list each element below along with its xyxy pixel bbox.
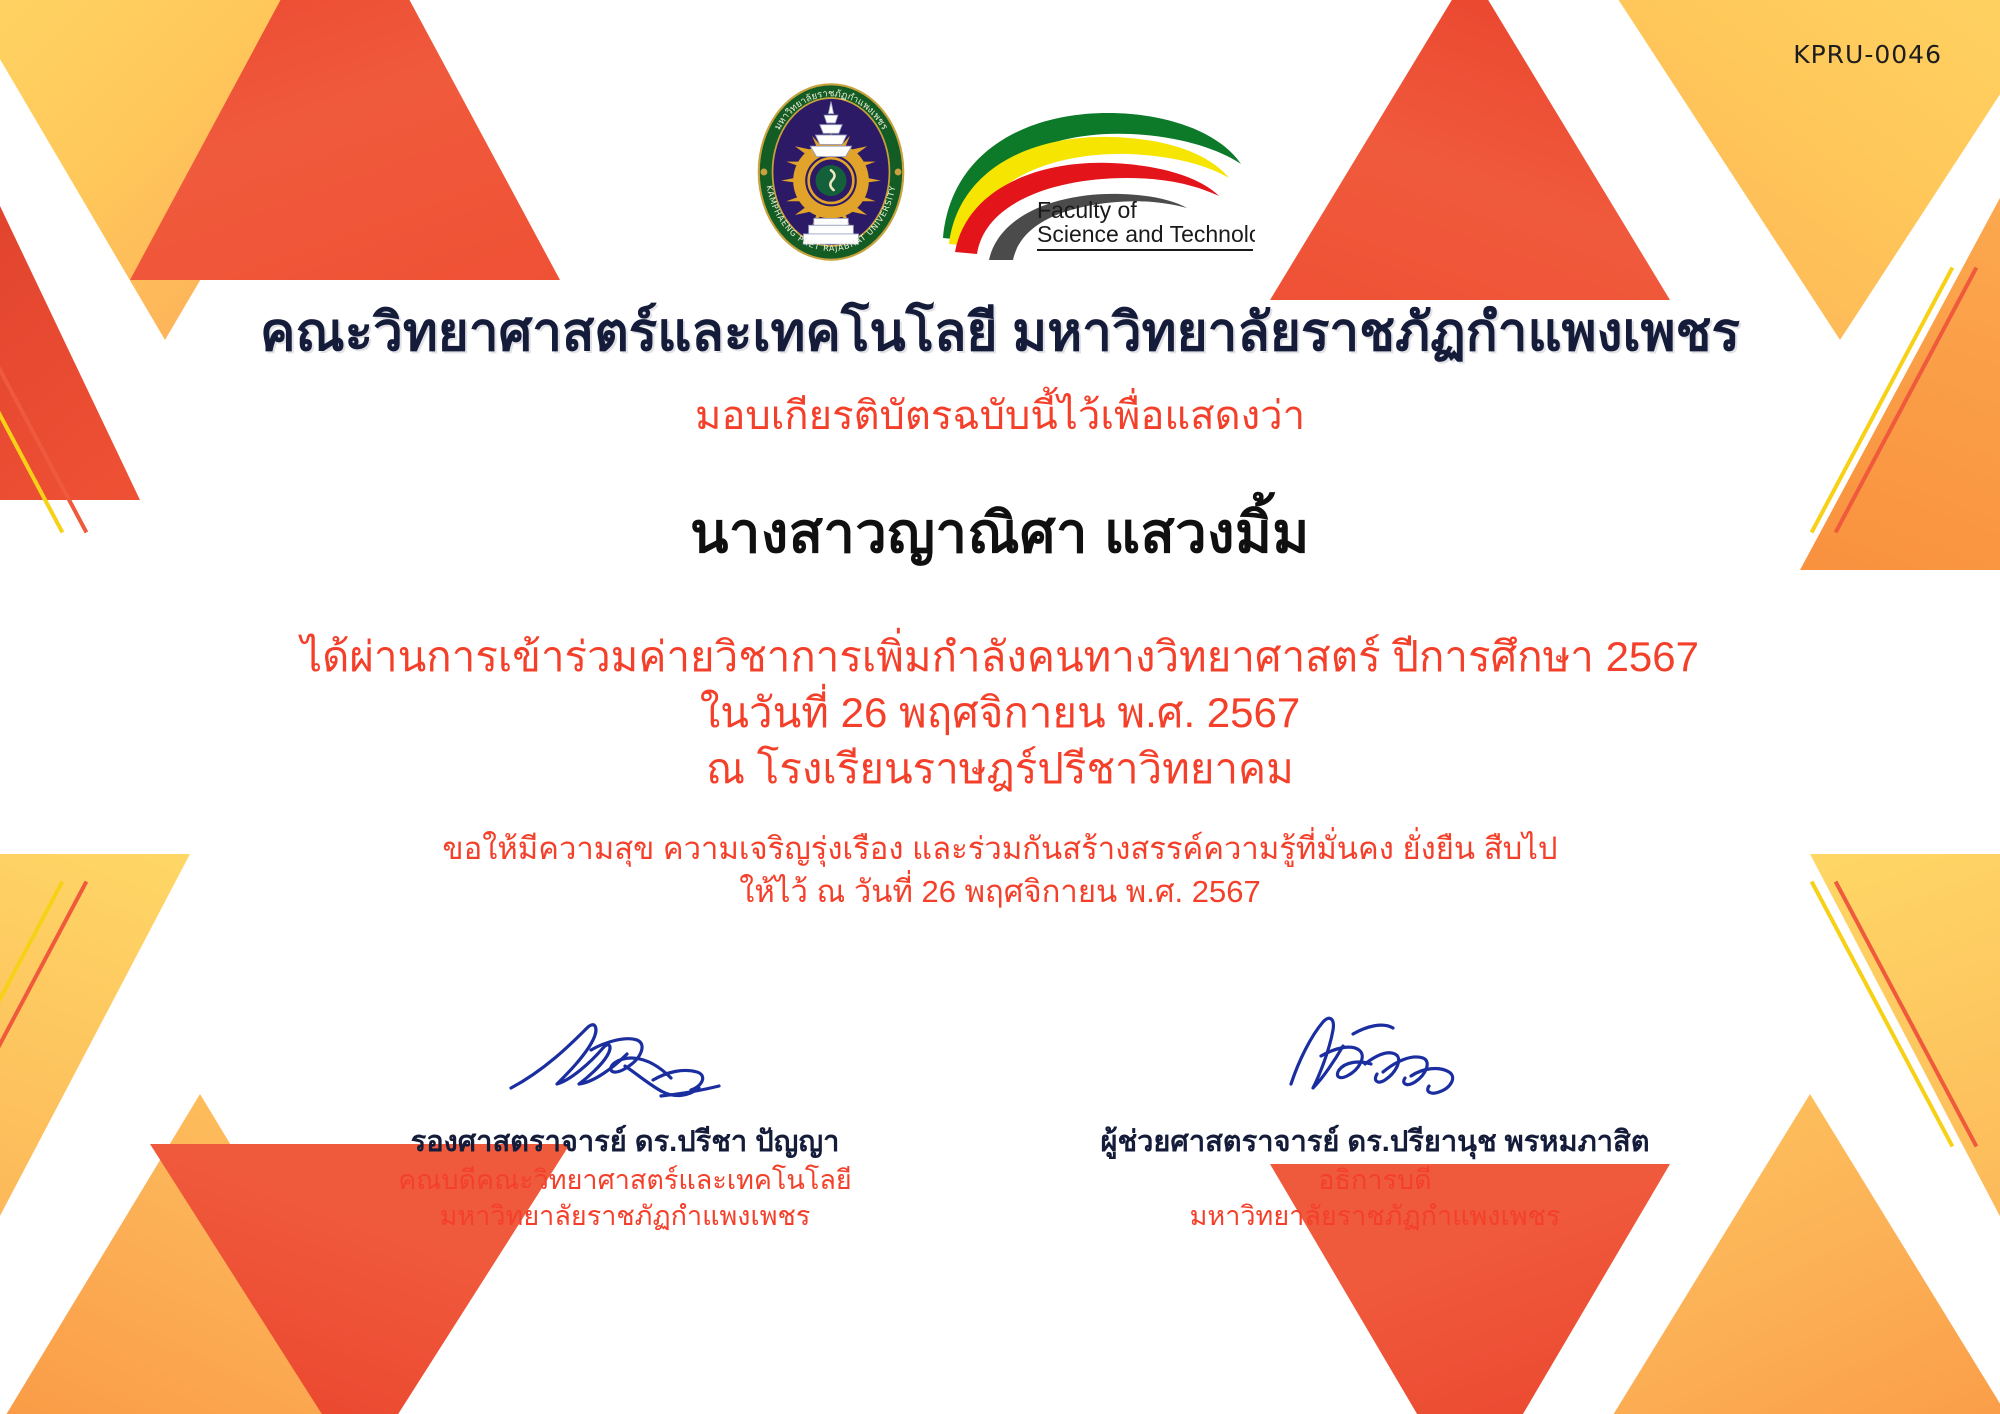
wish-text: ขอให้มีความสุข ความเจริญรุ่งเรือง และร่ว… (0, 827, 2000, 914)
signature-image-dean (325, 1010, 925, 1120)
signature-name-dean: รองศาสตราจารย์ ดร.ปรีชา ปัญญา (325, 1124, 925, 1162)
signature-row: รองศาสตราจารย์ ดร.ปรีชา ปัญญา คณบดีคณะวิ… (0, 1010, 2000, 1235)
certificate-content: คณะวิทยาศาสตร์และเทคโนโลยี มหาวิทยาลัยรา… (0, 300, 2000, 914)
logo-row: มหาวิทยาลัยราชภัฏกำแพงเพชร KAMPHAENG PHE… (0, 72, 2000, 272)
signature-name-president: ผู้ช่วยศาสตราจารย์ ดร.ปรียานุช พรหมภาสิต (1075, 1124, 1675, 1162)
university-seal-icon: มหาวิทยาลัยราชภัฏกำแพงเพชร KAMPHAENG PHE… (745, 72, 917, 272)
award-body-line-1: ได้ผ่านการเข้าร่วมค่ายวิชาการเพิ่มกำลังค… (0, 629, 2000, 685)
signature-block-dean: รองศาสตราจารย์ ดร.ปรีชา ปัญญา คณบดีคณะวิ… (325, 1010, 925, 1235)
signature-role-dean: คณบดีคณะวิทยาศาสตร์และเทคโนโลยี (325, 1162, 925, 1198)
organization-heading: คณะวิทยาศาสตร์และเทคโนโลยี มหาวิทยาลัยรา… (0, 300, 2000, 366)
wish-line-1: ขอให้มีความสุข ความเจริญรุ่งเรือง และร่ว… (0, 827, 2000, 870)
award-body-line-2: ในวันที่ 26 พฤศจิกายน พ.ศ. 2567 (0, 685, 2000, 741)
faculty-logo-line1: Faculty of (1037, 197, 1137, 223)
certificate-number: KPRU-0046 (1793, 40, 1942, 69)
faculty-logo-line2: Science and Technology (1037, 221, 1255, 247)
signature-image-president (1075, 1010, 1675, 1120)
award-body-line-3: ณ โรงเรียนราษฎร์ปรีชาวิทยาคม (0, 741, 2000, 797)
award-intro-text: มอบเกียรติบัตรฉบับนี้ไว้เพื่อแสดงว่า (0, 392, 2000, 440)
award-body: ได้ผ่านการเข้าร่วมค่ายวิชาการเพิ่มกำลังค… (0, 629, 2000, 797)
faculty-logo-icon: Faculty of Science and Technology (925, 90, 1255, 260)
certificate-page: KPRU-0046 (0, 0, 2000, 1414)
signature-org-dean: มหาวิทยาลัยราชภัฏกำแพงเพชร (325, 1198, 925, 1234)
signature-org-president: มหาวิทยาลัยราชภัฏกำแพงเพชร (1075, 1198, 1675, 1234)
wish-line-2: ให้ไว้ ณ วันที่ 26 พฤศจิกายน พ.ศ. 2567 (0, 870, 2000, 913)
signature-role-president: อธิการบดี (1075, 1162, 1675, 1198)
signature-block-president: ผู้ช่วยศาสตราจารย์ ดร.ปรียานุช พรหมภาสิต… (1075, 1010, 1675, 1235)
recipient-name: นางสาวญาณิศา แสวงมิ้ม (0, 488, 2000, 577)
